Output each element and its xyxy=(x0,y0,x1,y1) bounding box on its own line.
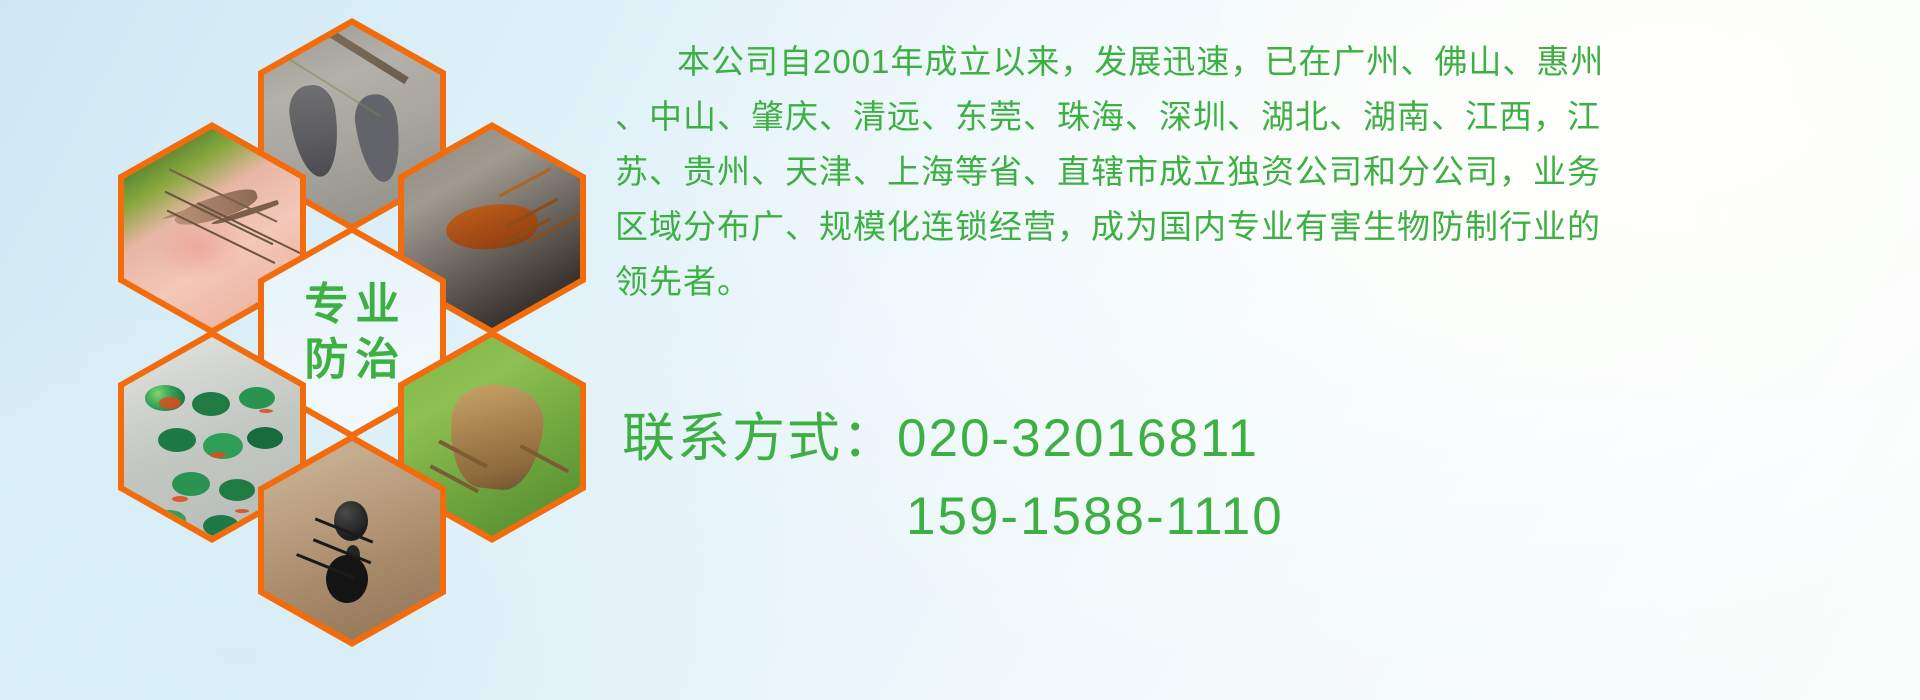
ant-photo xyxy=(264,441,440,640)
promo-banner: 专业 防治 本公司自2001年成立以来，发展迅速，已在广州、佛山、惠州 、中山、… xyxy=(0,0,1920,700)
company-description: 本公司自2001年成立以来，发展迅速，已在广州、佛山、惠州 、中山、肇庆、清远、… xyxy=(615,34,1910,309)
description-line-1: 本公司自2001年成立以来，发展迅速，已在广州、佛山、惠州 xyxy=(615,34,1910,89)
description-line-3: 苏、贵州、天津、上海等省、直辖市成立独资公司和分公司，业务 xyxy=(615,144,1910,199)
hexagon-photo-cluster: 专业 防治 xyxy=(90,0,590,570)
description-line-2: 、中山、肇庆、清远、东莞、珠海、深圳、湖北、湖南、江西，江 xyxy=(615,89,1910,144)
contact-phone-primary[interactable]: 联系方式：020-32016811 xyxy=(622,400,1912,478)
hex-center-label-line2: 防治 xyxy=(298,337,407,383)
description-line-4: 区域分布广、规模化连锁经营，成为国内专业有害生物防制行业的 xyxy=(615,199,1910,254)
hex-center-label-line1: 专业 xyxy=(298,282,407,328)
contact-phone-secondary[interactable]: 159-1588-1110 xyxy=(622,478,1912,556)
contact-block: 联系方式：020-32016811 159-1588-1110 xyxy=(622,400,1912,556)
description-line-5: 领先者。 xyxy=(615,254,1910,309)
